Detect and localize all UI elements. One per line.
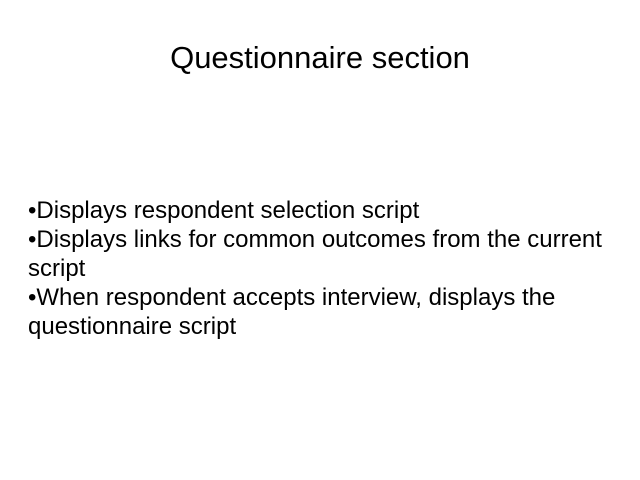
list-item-text: When respondent accepts interview, displ…: [28, 284, 555, 340]
list-item: •Displays respondent selection script: [28, 196, 612, 225]
list-item: •When respondent accepts interview, disp…: [28, 283, 612, 341]
list-item-text: Displays links for common outcomes from …: [28, 226, 602, 282]
slide-canvas: Questionnaire section •Displays responde…: [0, 0, 640, 480]
page-title: Questionnaire section: [0, 38, 640, 78]
list-item: •Displays links for common outcomes from…: [28, 225, 612, 283]
bullet-list: •Displays respondent selection script •D…: [28, 196, 612, 341]
list-item-text: Displays respondent selection script: [36, 197, 419, 224]
